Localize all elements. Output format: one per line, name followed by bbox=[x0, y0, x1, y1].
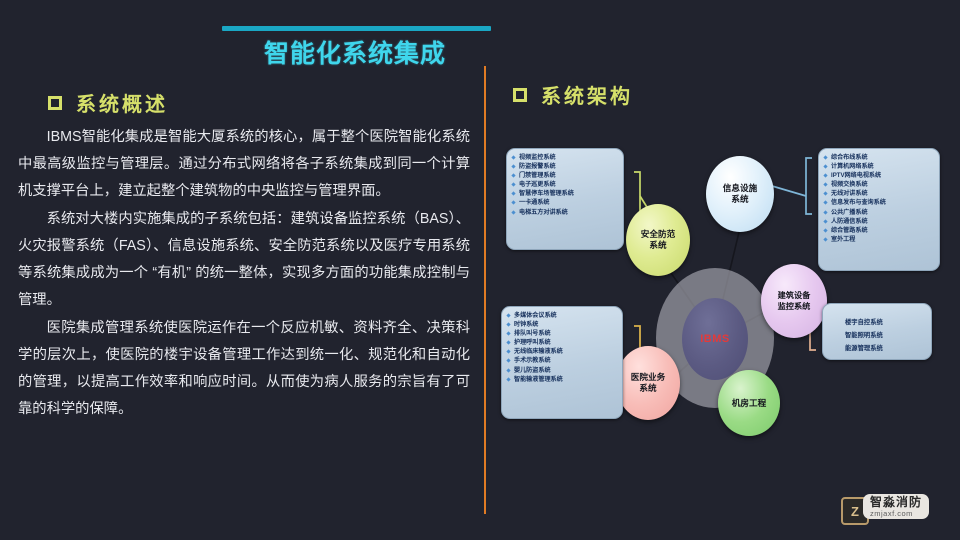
overview-paragraph: IBMS智能化集成是智能大厦系统的核心，属于整个医院智能化系统中最高级监控与管理… bbox=[18, 124, 470, 205]
card-security-subsystems: 视频监控系统防盗报警系统门禁管理系统电子巡更系统智慧停车场管理系统一卡通系统电梯… bbox=[506, 148, 624, 250]
square-bullet-icon bbox=[513, 88, 527, 102]
node-label-line1: 安全防范 bbox=[641, 229, 675, 240]
brand-name-cn: 智淼消防 bbox=[870, 496, 922, 509]
card-list-item: 室外工程 bbox=[823, 235, 934, 244]
card-list-item: 门禁管理系统 bbox=[511, 171, 618, 180]
node-machine-room-engineering[interactable]: 机房工程 bbox=[718, 370, 780, 436]
card-list-item: 防盗报警系统 bbox=[511, 162, 618, 171]
card-list: 视频监控系统防盗报警系统门禁管理系统电子巡更系统智慧停车场管理系统一卡通系统电梯… bbox=[511, 153, 618, 217]
watermark-logo: Z 智淼消防 zmjaxf.com bbox=[841, 491, 953, 531]
title-underline-rule bbox=[222, 26, 491, 31]
node-label-line1: 信息设施 bbox=[723, 183, 757, 194]
card-bas-subsystems: 楼宇自控系统智能照明系统能源管理系统 bbox=[822, 303, 932, 360]
node-hospital-business-system[interactable]: 医院业务 系统 bbox=[616, 346, 680, 420]
card-list-item: 信息发布与查询系统 bbox=[823, 198, 934, 207]
overview-body: IBMS智能化集成是智能大厦系统的核心，属于整个医院智能化系统中最高级监控与管理… bbox=[18, 124, 470, 424]
overview-paragraph: 医院集成管理系统使医院运作在一个反应机敏、资料齐全、决策科学的层次上，使医院的楼… bbox=[18, 315, 470, 423]
card-list: 楼宇自控系统智能照明系统能源管理系统 bbox=[827, 308, 926, 355]
card-list-item: 综合管路系统 bbox=[823, 226, 934, 235]
card-list-item: 手术示教系统 bbox=[506, 356, 617, 365]
card-list-item: 公共广播系统 bbox=[823, 208, 934, 217]
card-list-item: IPTV网络电视系统 bbox=[823, 171, 934, 180]
slide-canvas: 智能化系统集成 系统概述 IBMS智能化集成是智能大厦系统的核心，属于整个医院智… bbox=[0, 0, 960, 540]
core-node-label: IBMS bbox=[700, 333, 730, 345]
card-list-item: 综合布线系统 bbox=[823, 153, 934, 162]
card-list-item: 电梯五方对讲系统 bbox=[511, 208, 618, 217]
node-label-line1: 机房工程 bbox=[732, 398, 766, 409]
card-list-item: 护理呼叫系统 bbox=[506, 338, 617, 347]
brand-name-badge: 智淼消防 zmjaxf.com bbox=[863, 494, 929, 519]
node-label-line1: 医院业务 bbox=[631, 372, 665, 383]
overview-paragraph: 系统对大楼内实施集成的子系统包括：建筑设备监控系统（BAS）、火灾报警系统（FA… bbox=[18, 206, 470, 314]
section-heading-architecture: 系统架构 bbox=[513, 80, 633, 109]
card-list-item: 无线对讲系统 bbox=[823, 189, 934, 198]
architecture-diagram: IBMS 安全防范 系统 信息设施 系统 建筑设备 监控系统 医院业务 系统 bbox=[484, 110, 960, 510]
card-list-item: 无线临床输液系统 bbox=[506, 347, 617, 356]
node-label-line1: 建筑设备 bbox=[778, 290, 811, 301]
node-label-line2: 系统 bbox=[631, 383, 665, 394]
node-label-line2: 系统 bbox=[723, 194, 757, 205]
card-medical-subsystems: 多媒体会议系统时钟系统排队叫号系统护理呼叫系统无线临床输液系统手术示教系统婴儿防… bbox=[501, 306, 623, 419]
card-list-item: 时钟系统 bbox=[506, 320, 617, 329]
node-security-system[interactable]: 安全防范 系统 bbox=[626, 204, 690, 276]
card-list-item: 婴儿防盗系统 bbox=[506, 366, 617, 375]
card-list-item: 智能照明系统 bbox=[827, 329, 926, 342]
card-list-item: 视频监控系统 bbox=[511, 153, 618, 162]
card-list-item: 楼宇自控系统 bbox=[827, 316, 926, 329]
page-title: 智能化系统集成 bbox=[200, 34, 510, 70]
card-list-item: 排队叫号系统 bbox=[506, 329, 617, 338]
card-list-item: 一卡通系统 bbox=[511, 198, 618, 207]
card-list-item: 视频交换系统 bbox=[823, 180, 934, 189]
square-bullet-icon bbox=[48, 96, 62, 110]
card-list: 综合布线系统计算机网络系统IPTV网络电视系统视频交换系统无线对讲系统信息发布与… bbox=[823, 153, 934, 244]
card-list-item: 计算机网络系统 bbox=[823, 162, 934, 171]
brand-name-en: zmjaxf.com bbox=[870, 509, 922, 518]
section-heading-overview: 系统概述 bbox=[48, 88, 168, 117]
node-information-facility-system[interactable]: 信息设施 系统 bbox=[706, 156, 774, 232]
card-list-item: 能源管理系统 bbox=[827, 342, 926, 355]
section-heading-overview-label: 系统概述 bbox=[76, 88, 168, 117]
node-label-line2: 监控系统 bbox=[778, 301, 811, 312]
card-list: 多媒体会议系统时钟系统排队叫号系统护理呼叫系统无线临床输液系统手术示教系统婴儿防… bbox=[506, 311, 617, 384]
node-label-line2: 系统 bbox=[641, 240, 675, 251]
card-list-item: 人防通信系统 bbox=[823, 217, 934, 226]
card-list-item: 多媒体会议系统 bbox=[506, 311, 617, 320]
card-list-item: 智慧停车场管理系统 bbox=[511, 189, 618, 198]
node-building-automation-system[interactable]: 建筑设备 监控系统 bbox=[761, 264, 827, 338]
card-information-subsystems: 综合布线系统计算机网络系统IPTV网络电视系统视频交换系统无线对讲系统信息发布与… bbox=[818, 148, 940, 271]
section-heading-architecture-label: 系统架构 bbox=[541, 80, 633, 109]
card-list-item: 电子巡更系统 bbox=[511, 180, 618, 189]
core-node-ibms[interactable]: IBMS bbox=[682, 298, 748, 380]
card-list-item: 智能输液管理系统 bbox=[506, 375, 617, 384]
